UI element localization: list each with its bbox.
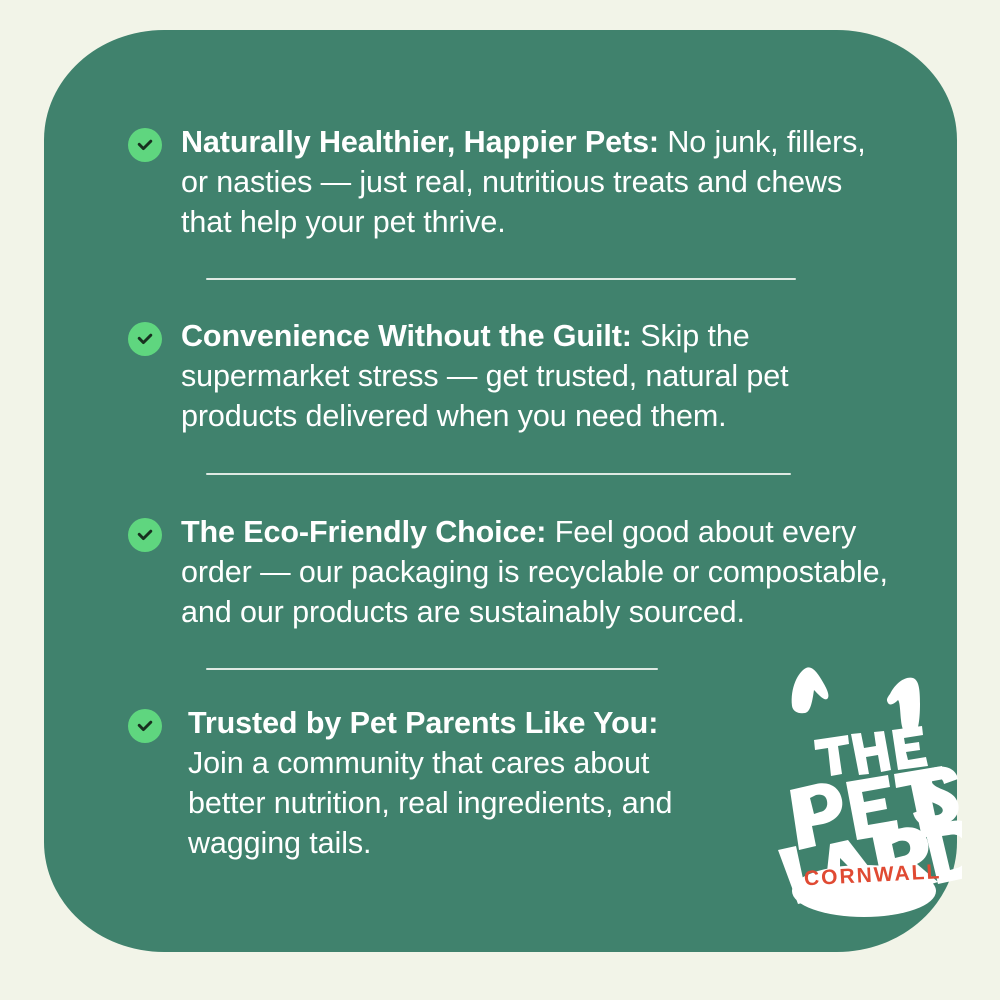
brand-logo: CORNWALL THE PETS LARDER	[772, 648, 962, 918]
check-circle-icon	[128, 322, 162, 356]
cat-ears-icon	[792, 667, 920, 736]
poster-canvas: Naturally Healthier, Happier Pets: No ju…	[0, 0, 1000, 1000]
benefit-item: The Eco-Friendly Choice: Feel good about…	[128, 512, 928, 632]
check-circle-icon	[128, 518, 162, 552]
check-circle-icon	[128, 709, 162, 743]
logo-line-the	[814, 726, 928, 776]
benefit-text: Naturally Healthier, Happier Pets: No ju…	[181, 122, 881, 242]
benefit-text: The Eco-Friendly Choice: Feel good about…	[181, 512, 893, 632]
benefit-heading: Convenience Without the Guilt:	[181, 319, 632, 353]
benefit-heading: Trusted by Pet Parents Like You:	[188, 706, 658, 740]
benefit-divider	[206, 278, 796, 280]
benefit-heading: The Eco-Friendly Choice:	[181, 515, 546, 549]
benefit-divider	[206, 668, 658, 670]
benefit-heading: Naturally Healthier, Happier Pets:	[181, 125, 659, 159]
benefits-card: Naturally Healthier, Happier Pets: No ju…	[44, 30, 957, 952]
benefit-item: Convenience Without the Guilt: Skip the …	[128, 316, 928, 436]
benefit-item: Naturally Healthier, Happier Pets: No ju…	[128, 122, 928, 242]
benefit-divider	[206, 473, 791, 475]
check-circle-icon	[128, 128, 162, 162]
benefit-text: Trusted by Pet Parents Like You: Join a …	[188, 703, 688, 863]
benefit-text: Convenience Without the Guilt: Skip the …	[181, 316, 899, 436]
benefit-body: Join a community that cares about better…	[188, 746, 672, 860]
